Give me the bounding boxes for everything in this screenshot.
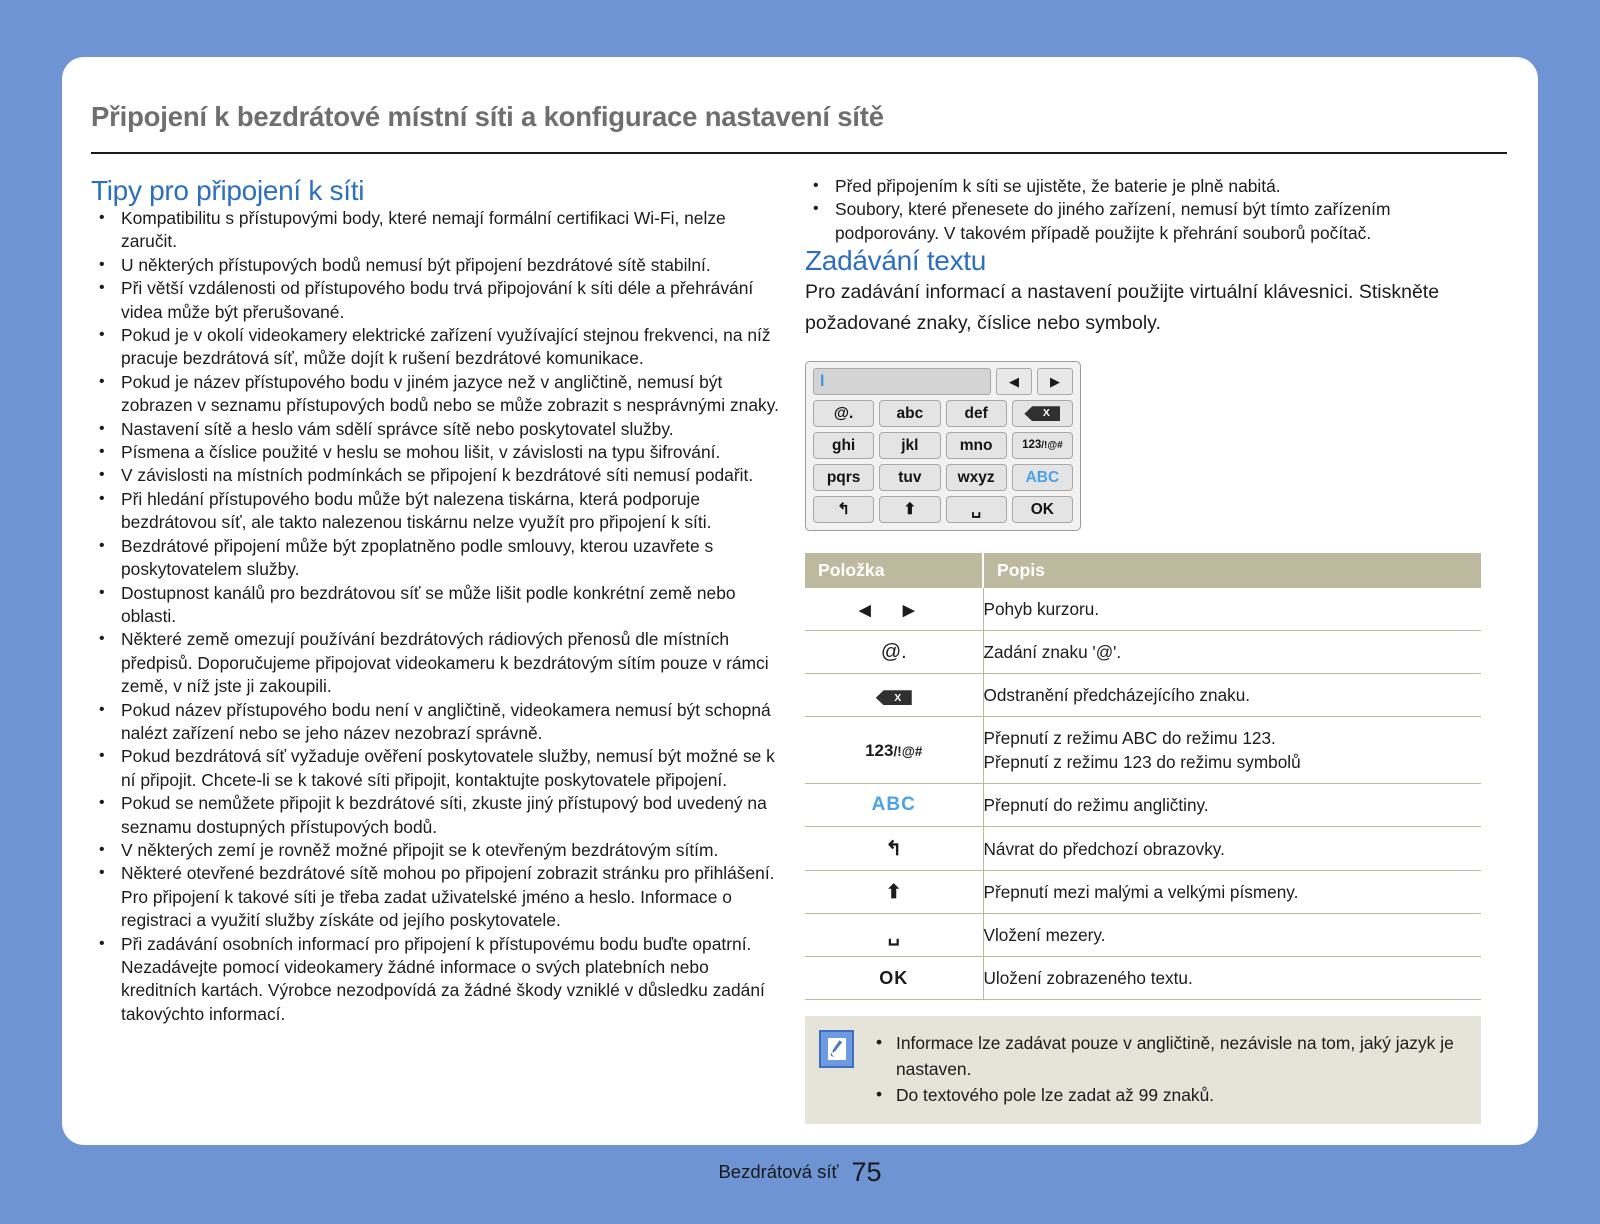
legend-mode-abc-icon: ABC — [805, 784, 983, 827]
keyboard-row-2: ghi jkl mno 123/!@# — [813, 432, 1073, 459]
tip-list-item: Nastavení sítě a heslo vám sdělí správce… — [91, 418, 781, 441]
key-mode-123[interactable]: 123/!@# — [1012, 432, 1073, 459]
key-ghi[interactable]: ghi — [813, 432, 874, 459]
right-section-heading: Zadávání textu — [805, 245, 1495, 277]
cursor-right-button[interactable]: ▶ — [1037, 368, 1073, 395]
tip-list-item: Pokud je název přístupového bodu v jiném… — [91, 371, 781, 418]
tip-list-item: Kompatibilitu s přístupovými body, které… — [91, 207, 781, 254]
left-section-heading: Tipy pro připojení k síti — [91, 175, 781, 207]
legend-description: Přepnutí z režimu ABC do režimu 123.Přep… — [983, 717, 1481, 784]
tip-list-item: Bezdrátové připojení může být zpoplatněn… — [91, 535, 781, 582]
legend-description: Přepnutí do režimu angličtiny. — [983, 784, 1481, 827]
title-divider — [91, 152, 1507, 154]
table-header-item: Položka — [805, 553, 983, 588]
tip-list-item: Při větší vzdálenosti od přístupového bo… — [91, 277, 781, 324]
note-bullet-list: Informace lze zadávat pouze v angličtině… — [868, 1030, 1465, 1108]
legend-space-icon: ␣ — [805, 914, 983, 957]
key-jkl[interactable]: jkl — [879, 432, 940, 459]
tip-list-item: V některých zemí je rovněž možné připoji… — [91, 839, 781, 862]
document-page: Připojení k bezdrátové místní síti a kon… — [62, 57, 1538, 1145]
key-def[interactable]: def — [946, 400, 1007, 427]
table-body: ◀ ▶Pohyb kurzoru.@.Zadání znaku '@'.XOds… — [805, 588, 1481, 1000]
keyboard-legend-table: Položka Popis ◀ ▶Pohyb kurzoru.@.Zadání … — [805, 553, 1481, 1000]
network-note-item: Před připojením k síti se ujistěte, že b… — [805, 175, 1495, 198]
table-row: ⬆Přepnutí mezi malými a velkými písmeny. — [805, 871, 1481, 914]
table-row: @.Zadání znaku '@'. — [805, 631, 1481, 674]
network-note-item: Soubory, které přenesete do jiného zaříz… — [805, 198, 1495, 245]
tip-list-item: Některé otevřené bezdrátové sítě mohou p… — [91, 862, 781, 932]
key-mno[interactable]: mno — [946, 432, 1007, 459]
tip-list-item: Některé země omezují používání bezdrátov… — [91, 628, 781, 698]
left-column: Tipy pro připojení k síti Kompatibilitu … — [91, 175, 781, 1026]
two-column-body: Tipy pro připojení k síti Kompatibilitu … — [62, 175, 1538, 1135]
note-callout: Informace lze zadávat pouze v angličtině… — [805, 1016, 1481, 1124]
tip-list-item: Dostupnost kanálů pro bezdrátovou síť se… — [91, 582, 781, 629]
legend-description: Přepnutí mezi malými a velkými písmeny. — [983, 871, 1481, 914]
key-wxyz[interactable]: wxyz — [946, 464, 1007, 491]
footer-section-label: Bezdrátová síť — [718, 1161, 838, 1183]
keyboard-row-3: pqrs tuv wxyz ABC — [813, 464, 1073, 491]
cursor-left-button[interactable]: ◀ — [996, 368, 1032, 395]
legend-description: Vložení mezery. — [983, 914, 1481, 957]
key-backspace[interactable]: X — [1012, 400, 1073, 427]
tip-list-item: Při zadávání osobních informací pro přip… — [91, 933, 781, 1027]
network-notes-bullet-list: Před připojením k síti se ujistěte, že b… — [805, 175, 1495, 245]
mode-123-icon: 123/!@# — [1022, 440, 1063, 452]
tip-list-item: U některých přístupových bodů nemusí být… — [91, 254, 781, 277]
page-title: Připojení k bezdrátové místní síti a kon… — [91, 101, 884, 133]
table-row: XOdstranění předcházejícího znaku. — [805, 674, 1481, 717]
key-pqrs[interactable]: pqrs — [813, 464, 874, 491]
tip-list-item: Při hledání přístupového bodu může být n… — [91, 488, 781, 535]
key-shift-icon[interactable]: ⬆ — [879, 496, 940, 523]
legend-ok-icon: OK — [805, 957, 983, 1000]
legend-backspace-icon: X — [805, 674, 983, 717]
legend-cursor-arrows-icon: ◀ ▶ — [805, 588, 983, 631]
key-return-icon[interactable]: ↰ — [813, 496, 874, 523]
tip-list-item: Pokud je v okolí videokamery elektrické … — [91, 324, 781, 371]
table-row: ABCPřepnutí do režimu angličtiny. — [805, 784, 1481, 827]
table-row: 123/!@#Přepnutí z režimu ABC do režimu 1… — [805, 717, 1481, 784]
table-header-desc: Popis — [983, 553, 1481, 588]
key-space-icon[interactable]: ␣ — [946, 496, 1007, 523]
text-entry-intro: Pro zadávání informací a nastavení použi… — [805, 277, 1495, 339]
virtual-keyboard[interactable]: l ◀ ▶ @. abc def X ghi — [805, 361, 1081, 531]
note-pen-icon — [819, 1030, 854, 1068]
legend-description: Uložení zobrazeného textu. — [983, 957, 1481, 1000]
legend-description: Odstranění předcházejícího znaku. — [983, 674, 1481, 717]
note-list-item: Informace lze zadávat pouze v angličtině… — [868, 1030, 1465, 1082]
key-tuv[interactable]: tuv — [879, 464, 940, 491]
keyboard-topbar: l ◀ ▶ — [813, 368, 1073, 395]
legend-mode-123-icon: 123/!@# — [805, 717, 983, 784]
legend-return-icon: ↰ — [805, 827, 983, 871]
keyboard-key-rows: @. abc def X ghi jkl mno 123/!@# — [813, 400, 1073, 523]
tip-list-item: Pokud bezdrátová síť vyžaduje ověření po… — [91, 745, 781, 792]
key-abc[interactable]: abc — [879, 400, 940, 427]
backspace-icon: X — [1024, 406, 1060, 421]
table-header-row: Položka Popis — [805, 553, 1481, 588]
tip-list-item: Pokud název přístupového bodu není v ang… — [91, 699, 781, 746]
legend-shift-icon: ⬆ — [805, 871, 983, 914]
table-row: ␣Vložení mezery. — [805, 914, 1481, 957]
note-list-item: Do textového pole lze zadat až 99 znaků. — [868, 1082, 1465, 1108]
keyboard-row-4: ↰ ⬆ ␣ OK — [813, 496, 1073, 523]
table-row: OKUložení zobrazeného textu. — [805, 957, 1481, 1000]
text-caret: l — [820, 374, 824, 390]
tip-list-item: Pokud se nemůžete připojit k bezdrátové … — [91, 792, 781, 839]
table-row: ↰Návrat do předchozí obrazovky. — [805, 827, 1481, 871]
legend-description: Zadání znaku '@'. — [983, 631, 1481, 674]
tip-list-item: Písmena a číslice použité v heslu se moh… — [91, 441, 781, 464]
table-row: ◀ ▶Pohyb kurzoru. — [805, 588, 1481, 631]
tips-bullet-list: Kompatibilitu s přístupovými body, které… — [91, 207, 781, 1026]
legend-item-text: @. — [805, 631, 983, 674]
key-ok[interactable]: OK — [1012, 496, 1073, 523]
tip-list-item: V závislosti na místních podmínkách se p… — [91, 464, 781, 487]
page-footer: Bezdrátová síť 75 — [0, 1152, 1600, 1192]
footer-page-number: 75 — [852, 1157, 882, 1188]
keyboard-text-input[interactable]: l — [813, 368, 991, 395]
keyboard-row-1: @. abc def X — [813, 400, 1073, 427]
right-column: Před připojením k síti se ujistěte, že b… — [805, 175, 1495, 1124]
legend-description: Pohyb kurzoru. — [983, 588, 1481, 631]
key-mode-abc[interactable]: ABC — [1012, 464, 1073, 491]
legend-description: Návrat do předchozí obrazovky. — [983, 827, 1481, 871]
key-at-dot[interactable]: @. — [813, 400, 874, 427]
